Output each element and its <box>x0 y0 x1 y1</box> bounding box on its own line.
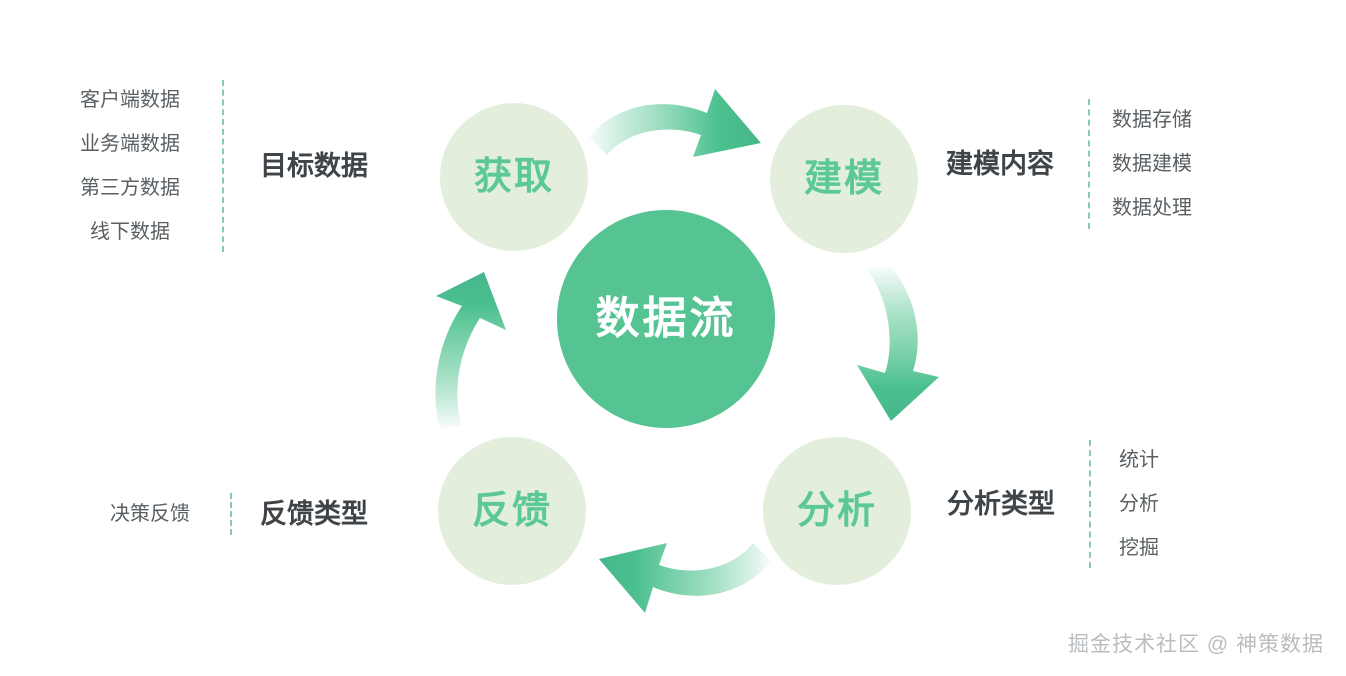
group-title-analysis-type: 分析类型 <box>947 491 1055 518</box>
analysis-type-item-list: 统计 分析 挖掘 <box>1119 438 1159 570</box>
list-item: 决策反馈 <box>110 492 190 536</box>
list-item: 分析 <box>1119 482 1159 526</box>
node-acquire-label: 获取 <box>474 158 554 196</box>
list-item: 统计 <box>1119 438 1159 482</box>
group-feedback-type: 决策反馈 反馈类型 <box>90 492 368 536</box>
node-feedback-label: 反馈 <box>472 492 552 530</box>
node-acquire[interactable]: 获取 <box>440 103 588 251</box>
list-item: 数据建模 <box>1112 142 1192 186</box>
list-item: 数据存储 <box>1112 98 1192 142</box>
divider <box>1088 99 1090 229</box>
node-feedback[interactable]: 反馈 <box>438 437 586 585</box>
arrow-analyze-to-feedback <box>595 525 775 635</box>
list-item: 客户端数据 <box>80 78 180 122</box>
list-item: 第三方数据 <box>80 166 180 210</box>
node-model-label: 建模 <box>804 160 884 198</box>
group-title-feedback-type: 反馈类型 <box>260 501 368 528</box>
list-item: 线下数据 <box>90 210 170 254</box>
node-model[interactable]: 建模 <box>770 105 918 253</box>
node-analyze[interactable]: 分析 <box>763 437 911 585</box>
group-target-data: 客户端数据 业务端数据 第三方数据 线下数据 目标数据 <box>60 78 368 254</box>
group-analysis-type: 分析类型 统计 分析 挖掘 <box>947 438 1159 570</box>
center-node-data-flow[interactable]: 数据流 <box>557 210 775 428</box>
diagram-canvas: 获取 建模 分析 反馈 数据流 客户端数据 业务端数据 第三方数据 线下数据 目… <box>0 0 1346 676</box>
divider <box>222 80 224 252</box>
node-analyze-label: 分析 <box>797 492 877 530</box>
list-item: 业务端数据 <box>80 122 180 166</box>
list-item: 挖掘 <box>1119 526 1159 570</box>
model-content-item-list: 数据存储 数据建模 数据处理 <box>1112 98 1192 230</box>
list-item: 数据处理 <box>1112 186 1192 230</box>
arrow-acquire-to-model <box>585 65 765 180</box>
arrow-model-to-analyze <box>845 265 965 425</box>
center-node-label: 数据流 <box>596 297 737 341</box>
group-title-model-content: 建模内容 <box>946 151 1054 178</box>
feedback-type-item-list: 决策反馈 <box>90 492 210 536</box>
divider <box>230 493 232 535</box>
target-data-item-list: 客户端数据 业务端数据 第三方数据 线下数据 <box>60 78 200 254</box>
watermark: 掘金技术社区 @ 神策数据 <box>1068 628 1324 658</box>
group-model-content: 建模内容 数据存储 数据建模 数据处理 <box>946 98 1192 230</box>
group-title-target-data: 目标数据 <box>260 153 368 180</box>
divider <box>1089 440 1091 568</box>
arrow-feedback-to-acquire <box>400 270 515 430</box>
